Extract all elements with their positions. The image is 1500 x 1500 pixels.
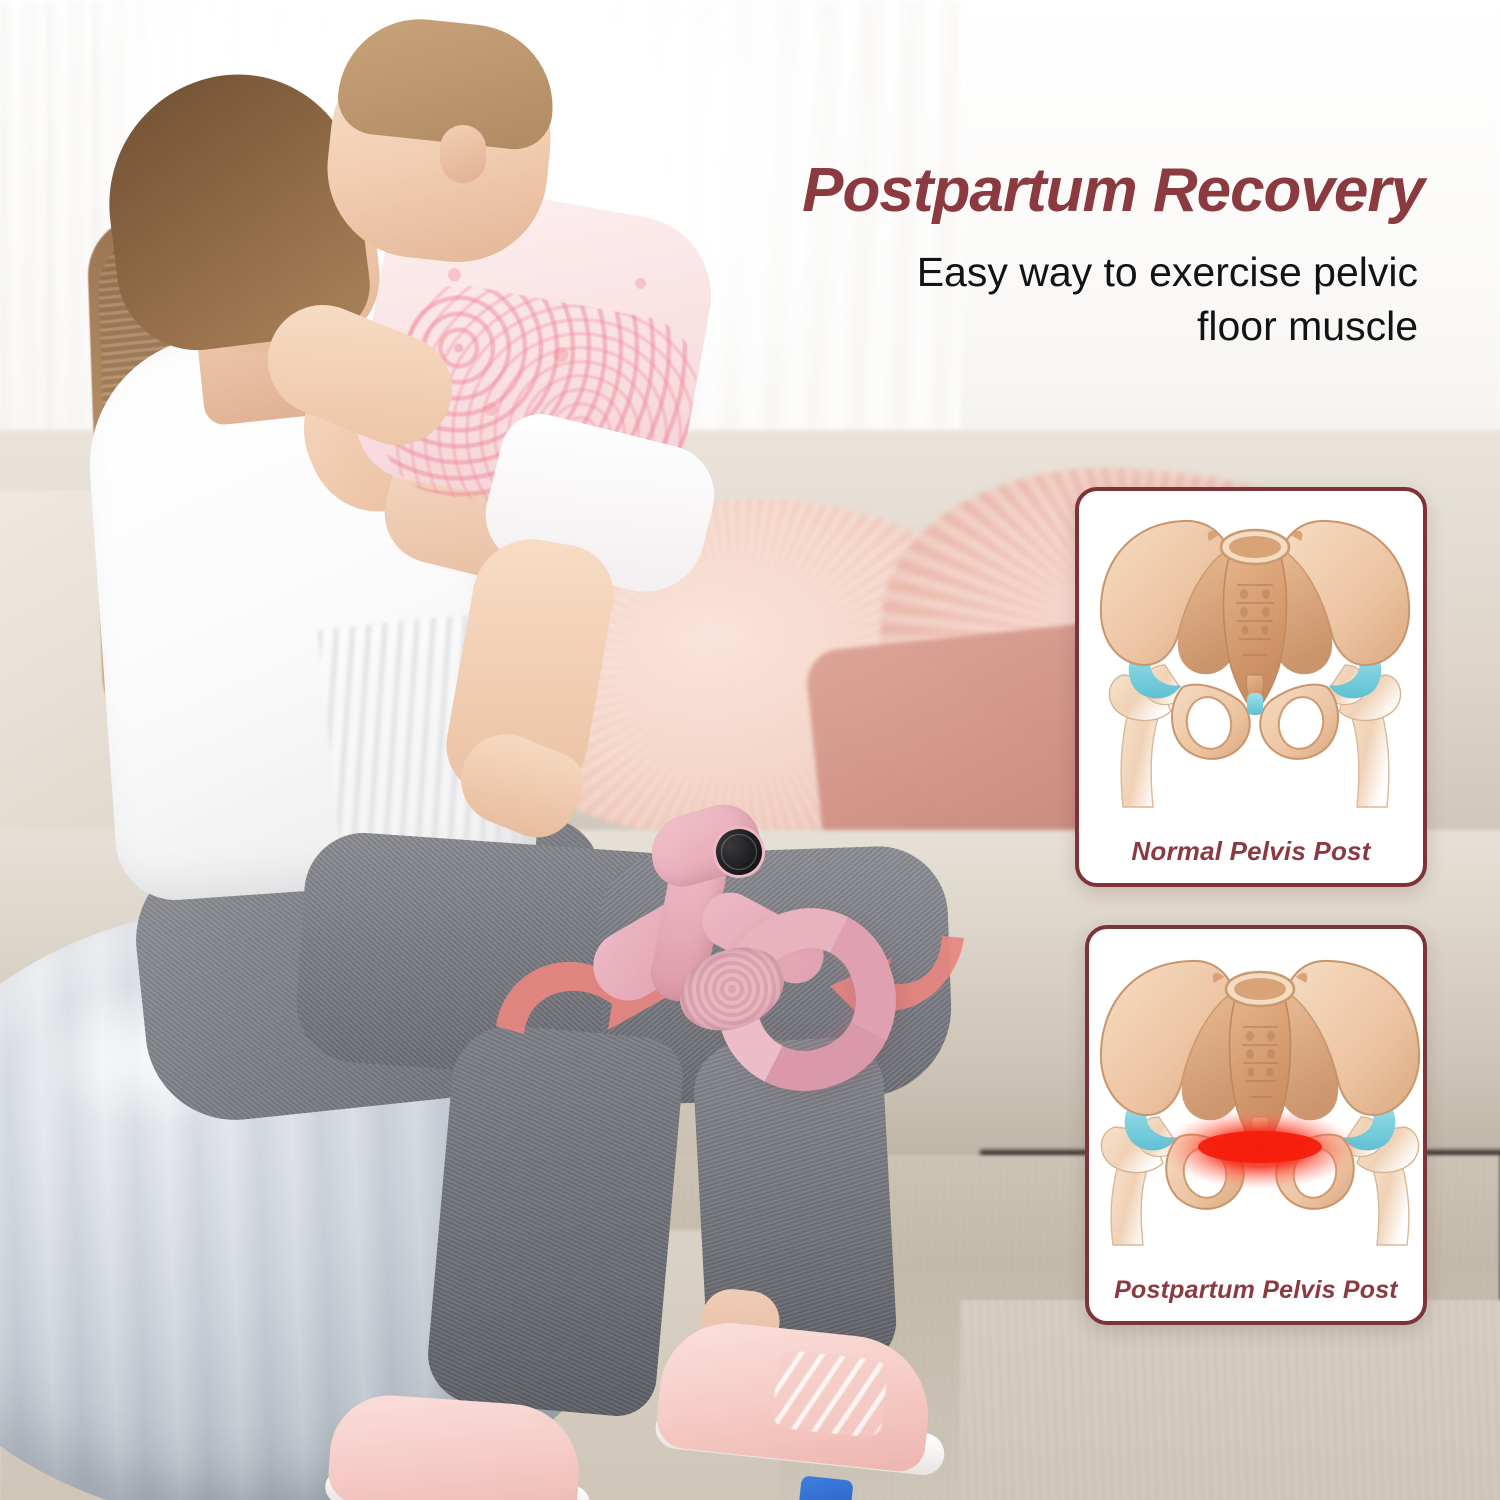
pelvic-floor-exerciser-device bbox=[620, 800, 930, 1100]
card-normal-pelvis[interactable]: Normal Pelvis Post bbox=[1075, 487, 1427, 887]
card-postpartum-pelvis[interactable]: Postpartum Pelvis Post bbox=[1085, 925, 1427, 1325]
blue-object bbox=[798, 1475, 853, 1500]
pelvis-anatomy-widened-icon bbox=[1089, 935, 1423, 1247]
page-title: Postpartum Recovery bbox=[630, 158, 1460, 223]
card-label-normal: Normal Pelvis Post bbox=[1079, 836, 1423, 867]
baby-ear bbox=[440, 125, 486, 183]
pelvis-anatomy-normal-icon bbox=[1079, 497, 1423, 809]
subtitle-line-2: floor muscle bbox=[630, 299, 1418, 353]
product-image-canvas: Postpartum Recovery Easy way to exercise… bbox=[0, 0, 1500, 1500]
device-cap-ring bbox=[721, 834, 757, 870]
subtitle-line-1: Easy way to exercise pelvic bbox=[630, 245, 1418, 299]
marketing-copy: Postpartum Recovery Easy way to exercise… bbox=[630, 158, 1460, 353]
shoe-laces bbox=[771, 1349, 889, 1438]
card-label-postpartum: Postpartum Pelvis Post bbox=[1089, 1276, 1423, 1305]
subtitle: Easy way to exercise pelvic floor muscle bbox=[630, 245, 1460, 353]
carpet-right bbox=[960, 1300, 1500, 1500]
